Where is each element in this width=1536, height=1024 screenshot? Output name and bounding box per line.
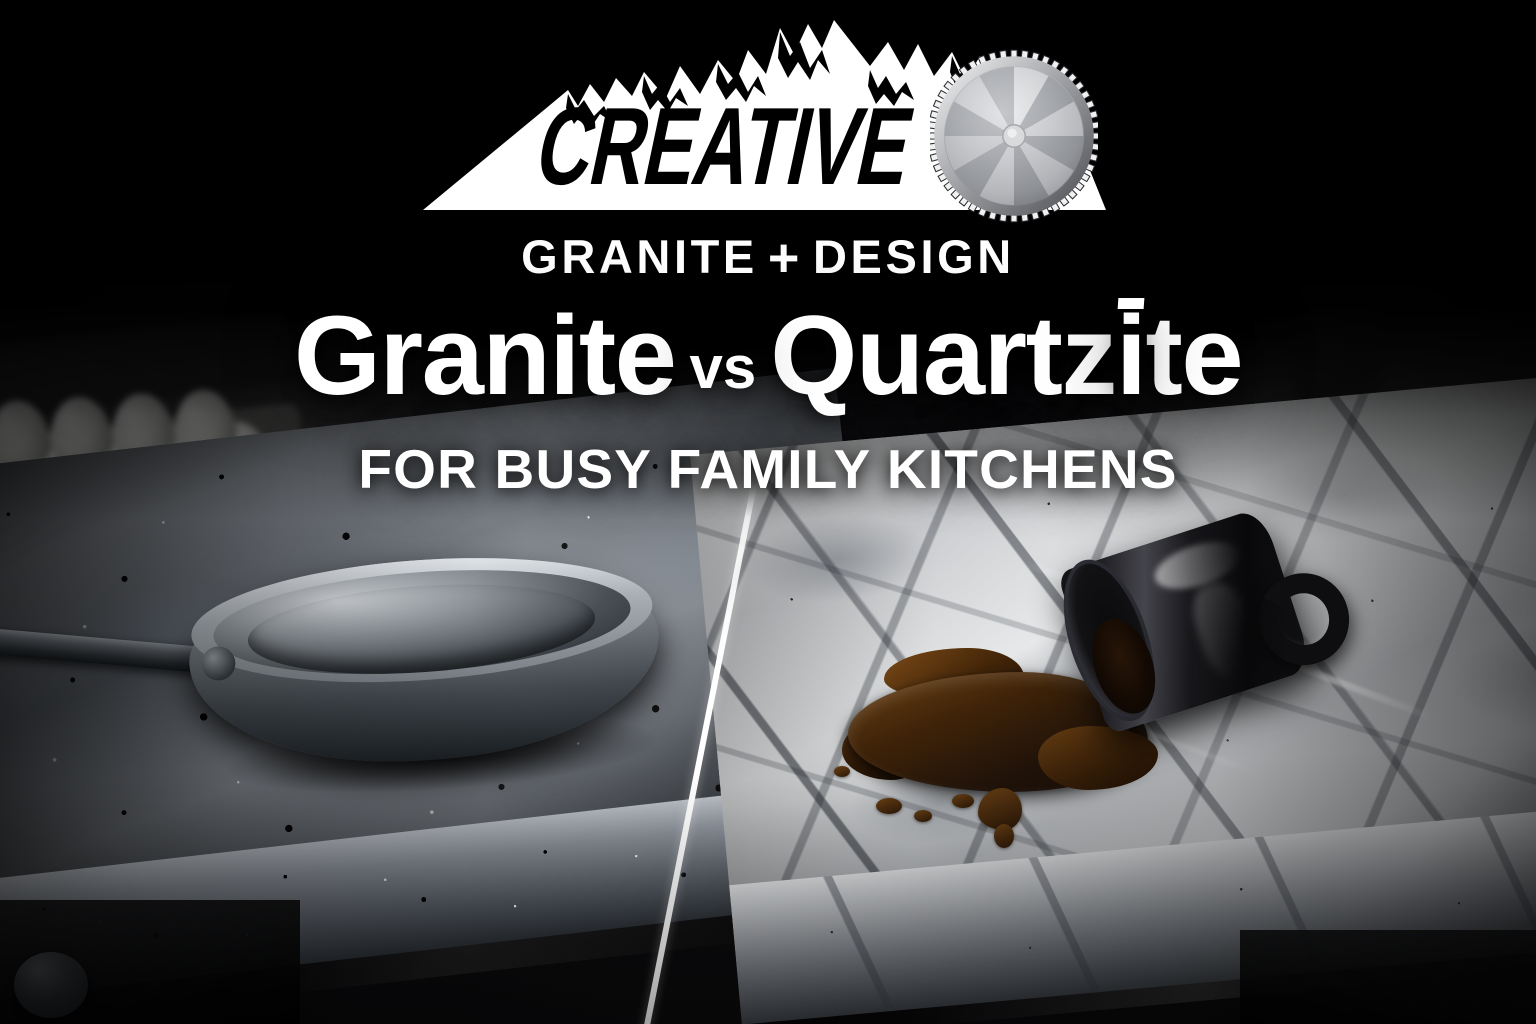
headline-versus: vs	[689, 338, 756, 398]
coffee-droplet	[952, 794, 974, 808]
coffee-droplet	[876, 798, 902, 814]
headline-macron-i: i	[1116, 300, 1146, 412]
cabinet-knob	[14, 952, 88, 1018]
logo-tagline: GRANITE+DESIGN	[0, 228, 1536, 282]
headline-quartz-prefix: Quartz	[770, 300, 1116, 412]
coffee-droplet	[834, 766, 850, 777]
logo-mark: CREATIVE	[418, 14, 1118, 224]
logo-tagline-plus-icon: +	[768, 231, 803, 285]
headline-quartz-suffix: te	[1146, 300, 1243, 412]
frying-pan	[183, 544, 667, 786]
poster-canvas: CREATIVE	[0, 0, 1536, 1024]
coffee-droplet	[994, 824, 1014, 848]
logo-tagline-design: DESIGN	[813, 230, 1015, 283]
brand-logo[interactable]: CREATIVE	[0, 14, 1536, 282]
logo-tagline-granite: GRANITE	[521, 230, 758, 283]
page-subtitle: FOR BUSY FAMILY KITCHENS	[0, 437, 1536, 501]
diamond-saw-blade-icon	[930, 46, 1098, 226]
page-title: GranitevsQuartzite	[0, 300, 1536, 412]
headline-granite: Granite	[294, 300, 676, 412]
cabinet-shadow-right	[1240, 930, 1536, 1024]
coffee-droplet	[914, 810, 932, 822]
